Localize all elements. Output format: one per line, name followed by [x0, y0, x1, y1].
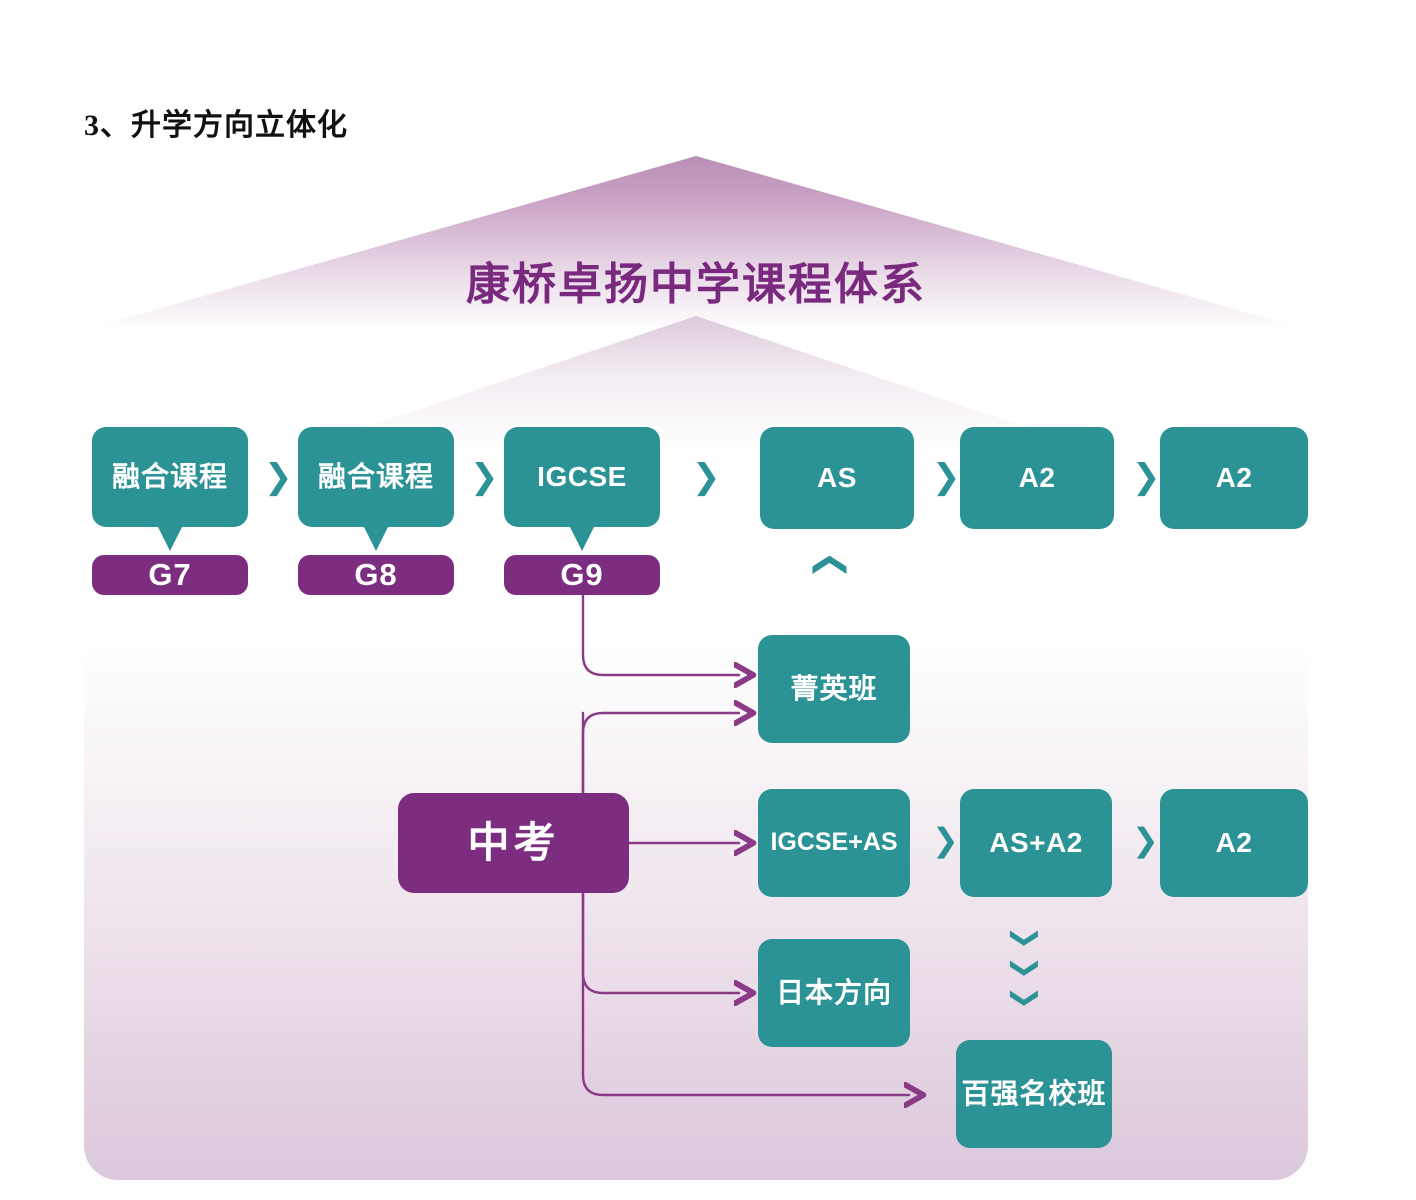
branch-alevel-label-3: A2	[1216, 828, 1253, 859]
course-box-6-label: A2	[1216, 463, 1253, 494]
chevron-right-icon-2: ❯	[470, 460, 499, 494]
branch-elite-label: 菁英班	[790, 674, 877, 705]
page-title: 3、升学方向立体化	[84, 100, 348, 144]
branch-top100-box[interactable]: 百强名校班	[956, 1040, 1112, 1148]
branch-alevel-box-2[interactable]: AS+A2	[960, 789, 1112, 897]
course-box-4[interactable]: AS	[760, 427, 914, 529]
branch-japan-box[interactable]: 日本方向	[758, 939, 910, 1047]
branch-japan-label: 日本方向	[776, 978, 892, 1009]
banner-chevron-bottom-shape	[84, 308, 1308, 448]
course-box-1-label: 融合课程	[112, 462, 228, 493]
connector-g9-to-elite	[583, 595, 739, 675]
chevron-up-icon: ❮	[814, 551, 848, 580]
chevron-down-icon-2: ❯	[1012, 956, 1040, 979]
course-box-2[interactable]: 融合课程	[298, 427, 454, 527]
chevron-right-icon-3: ❯	[692, 460, 721, 494]
exam-node-label: 中考	[467, 820, 559, 866]
branch-alevel-box-3[interactable]: A2	[1160, 789, 1308, 897]
course-box-1[interactable]: 融合课程	[92, 427, 248, 527]
branch-alevel-label-1: IGCSE+AS	[770, 829, 897, 857]
chevron-right-icon-6: ❯	[932, 824, 959, 856]
branch-top100-label: 百强名校班	[961, 1079, 1106, 1110]
chevron-down-icon-3: ❯	[1012, 986, 1040, 1009]
chevron-down-triple-icon: ❯ ❯ ❯	[1014, 924, 1037, 1012]
diagram-title: 康桥卓扬中学课程体系	[84, 248, 1308, 312]
grade-pill-2-label: G8	[354, 557, 397, 593]
course-box-5-label: A2	[1019, 463, 1056, 494]
course-system-diagram: 康桥卓扬中学课程体系 融合课程 G7 ❯ 融合课程	[84, 150, 1308, 1180]
grade-pill-2[interactable]: G8	[298, 555, 454, 595]
course-box-4-label: AS	[817, 463, 857, 494]
chevron-down-icon-1: ❯	[1012, 926, 1040, 949]
chevron-right-icon-4: ❯	[932, 460, 961, 494]
course-box-3-label: IGCSE	[537, 462, 627, 493]
chevron-right-icon-1: ❯	[264, 460, 293, 494]
connector-exam-to-japan	[583, 890, 739, 993]
grade-pill-3[interactable]: G9	[504, 555, 660, 595]
exam-node[interactable]: 中考	[398, 793, 629, 893]
grade-pill-1[interactable]: G7	[92, 555, 248, 595]
chevron-right-icon-7: ❯	[1132, 824, 1159, 856]
branch-alevel-box-1[interactable]: IGCSE+AS	[758, 789, 910, 897]
branch-alevel-label-2: AS+A2	[989, 828, 1083, 859]
course-box-2-label: 融合课程	[318, 462, 434, 493]
course-box-3[interactable]: IGCSE	[504, 427, 660, 527]
chevron-right-icon-5: ❯	[1132, 460, 1161, 494]
grade-pill-3-label: G9	[560, 557, 603, 593]
grade-pill-1-label: G7	[148, 557, 191, 593]
branch-elite-box[interactable]: 菁英班	[758, 635, 910, 743]
course-box-5[interactable]: A2	[960, 427, 1114, 529]
course-box-6[interactable]: A2	[1160, 427, 1308, 529]
